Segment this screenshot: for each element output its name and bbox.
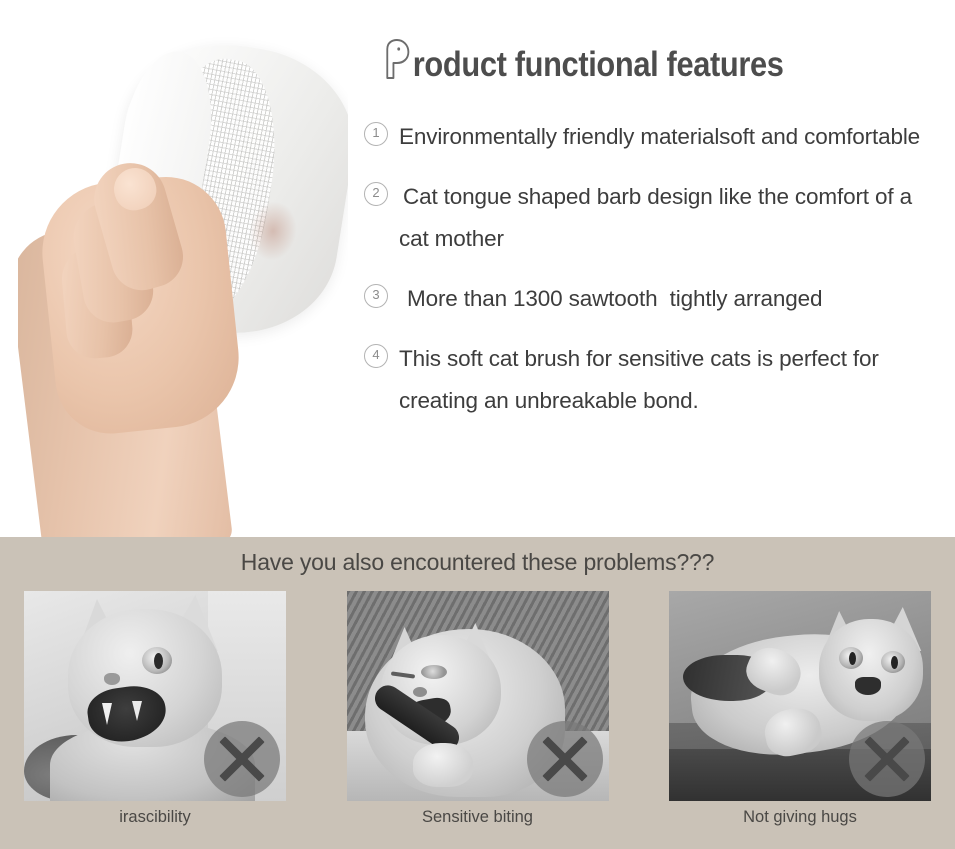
product-feature-page: roduct functional features 1 Environment… xyxy=(0,0,955,849)
p3-cat-pupil-left xyxy=(849,652,856,665)
problem-caption-2: Sensitive biting xyxy=(347,808,609,827)
p3-cat-head xyxy=(819,619,923,721)
p2-cat-eye xyxy=(421,665,447,679)
product-image xyxy=(18,10,348,537)
page-title-text: roduct functional features xyxy=(413,45,784,85)
feature-number-1: 1 xyxy=(364,122,388,146)
problems-section: Have you also encountered these problems… xyxy=(0,537,955,849)
p2-cat-paw xyxy=(413,743,473,787)
problem-image-3 xyxy=(669,591,931,801)
problem-caption-1: irascibility xyxy=(24,808,286,827)
p3-cat-mouth xyxy=(855,677,881,695)
feature-item-1: 1 Environmentally friendly materialsoft … xyxy=(364,116,924,158)
feature-item-4: 4 This soft cat brush for sensitive cats… xyxy=(364,338,924,422)
page-title: roduct functional features xyxy=(382,34,784,85)
feature-item-3: 3 More than 1300 sawtooth tightly arrang… xyxy=(364,278,924,320)
feature-text-2: Cat tongue shaped barb design like the c… xyxy=(399,176,924,260)
x-mark-icon xyxy=(527,721,603,797)
problem-card-2: Sensitive biting xyxy=(347,591,609,827)
title-drop-cap-p xyxy=(382,38,412,80)
feature-item-2: 2 Cat tongue shaped barb design like the… xyxy=(364,176,924,260)
problem-card-3: Not giving hugs xyxy=(669,591,931,827)
problem-image-2 xyxy=(347,591,609,801)
feature-text-1: Environmentally friendly materialsoft an… xyxy=(399,116,924,158)
problems-heading: Have you also encountered these problems… xyxy=(0,549,955,576)
x-mark-icon xyxy=(849,721,925,797)
feature-text-4: This soft cat brush for sensitive cats i… xyxy=(399,338,924,422)
feature-number-3: 3 xyxy=(364,284,388,308)
problem-image-1 xyxy=(24,591,286,801)
problem-card-list: irascibility Sen xyxy=(0,591,955,827)
p2-cat-nose xyxy=(413,687,427,697)
problem-caption-3: Not giving hugs xyxy=(669,808,931,827)
problem-card-1: irascibility xyxy=(24,591,286,827)
p1-cat-nose xyxy=(104,673,120,685)
p3-cat-pupil-right xyxy=(891,656,898,669)
features-section: roduct functional features 1 Environment… xyxy=(0,0,955,537)
x-mark-icon xyxy=(204,721,280,797)
feature-text-3: More than 1300 sawtooth tightly arranged xyxy=(399,278,924,320)
feature-number-4: 4 xyxy=(364,344,388,368)
p1-cat-pupil xyxy=(154,653,163,669)
feature-list: 1 Environmentally friendly materialsoft … xyxy=(364,116,924,440)
photo-brush-smudge xyxy=(246,199,301,263)
feature-number-2: 2 xyxy=(364,182,388,206)
